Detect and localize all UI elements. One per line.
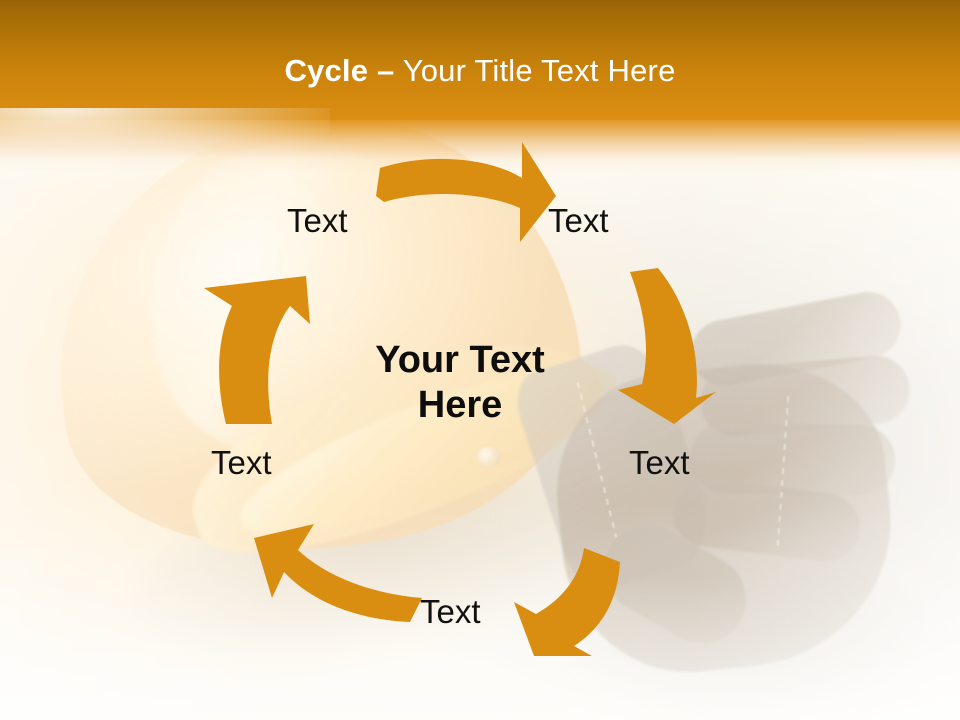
arrow-right[interactable] (612, 266, 720, 426)
center-text-line-2: Here (300, 383, 620, 428)
slide-canvas: Cycle – Your Title Text Here Text Text T… (0, 0, 960, 720)
arrow-bottom-left[interactable] (250, 512, 428, 624)
arrow-top[interactable] (370, 138, 560, 250)
node-label-bottom: Text (420, 593, 481, 631)
node-label-left: Text (211, 444, 272, 482)
cycle-diagram: Text Text Text Text Text Your Text Here (0, 0, 960, 720)
center-text-line-1: Your Text (300, 338, 620, 383)
node-label-top-left: Text (287, 202, 348, 240)
arrow-left[interactable] (198, 272, 314, 430)
node-label-top-right: Text (548, 202, 609, 240)
arrow-bottom-right[interactable] (492, 546, 637, 658)
center-text: Your Text Here (300, 338, 620, 428)
node-label-right: Text (629, 444, 690, 482)
